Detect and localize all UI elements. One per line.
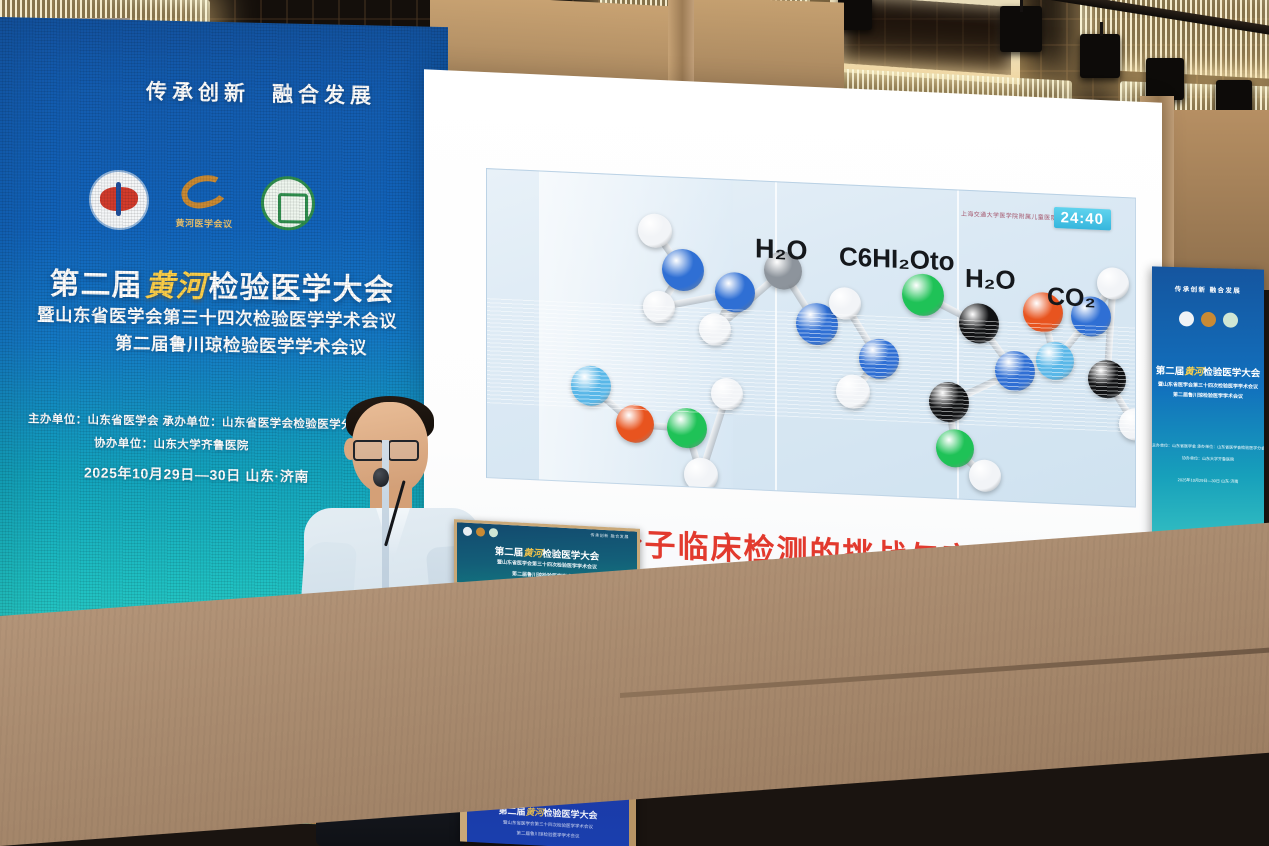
podium-title-prefix: 第二届 (495, 546, 524, 558)
banner-slogan: 传承创新 融合发展 (1152, 282, 1264, 295)
atom-chlorine (902, 273, 944, 317)
yellow-river-medical-conference-logo-icon: 黄河医学会议 (173, 173, 235, 230)
logo-caption: 黄河医学会议 (173, 216, 235, 230)
shandong-medical-association-logo-icon (1179, 311, 1194, 326)
spotlight-mount-arm (1100, 22, 1103, 36)
qilu-hospital-logo-icon (489, 528, 498, 537)
title-suffix: 检验医学大会 (209, 271, 395, 308)
backdrop-date-location: 2025年10月29日—30日 山东·济南 (84, 462, 309, 486)
atom-hydrogen (684, 457, 718, 493)
microphone-icon (373, 468, 389, 487)
banner-subtitle-2: 第二届鲁川琼检验医学学术会议 (1152, 390, 1264, 400)
atom-oxygen (616, 404, 654, 444)
atom-hydrogen (711, 377, 743, 410)
atom-carbon (929, 381, 969, 423)
podium-slogan: 传承创新 融合发展 (590, 532, 629, 540)
atom-hydrogen (638, 213, 672, 249)
molecular-bond (850, 357, 882, 394)
atom-nitrogen (715, 271, 755, 313)
backdrop-logo-row: 黄河医学会议 (91, 171, 315, 231)
banner-date-location: 2025年10月29日—30日 山东·济南 (1152, 476, 1264, 485)
conference-stage-photo: 传承创新融合发展 黄河医学会议 第二届黄河检验医学大会 暨山东省医学会第三十四次… (0, 0, 1269, 846)
atom-carbon (1088, 359, 1126, 399)
qilu-hospital-logo-icon (1223, 312, 1238, 327)
stage-spotlight (1080, 34, 1120, 78)
chemical-formula: H₂O (965, 263, 1016, 296)
atom-hydrogen (643, 290, 675, 323)
qilu-hospital-logo-icon (261, 176, 315, 231)
atom-chlorine (936, 428, 974, 468)
atom-hydrogen (699, 313, 731, 346)
atom-fluorine (571, 365, 611, 407)
atom-hydrogen (969, 459, 1001, 492)
backdrop-organizer-line-2: 协办单位：山东大学齐鲁医院 (94, 435, 249, 454)
banner-logo-row (1152, 310, 1264, 328)
countdown-timer: 24:40 (1054, 207, 1111, 231)
molecular-structure-image: H₂OC6HI₂OtoH₂OCO₂CO₂ 上海交通大学医学院附属儿童医院 24:… (486, 168, 1136, 508)
slide-brand-strip: 上海交通大学医学院附属儿童医院 (961, 209, 1057, 222)
molecular-bond (947, 368, 1016, 405)
wall-panel-far-right (1174, 110, 1269, 290)
atom-carbon (959, 303, 999, 345)
eyeglasses-icon (388, 440, 419, 461)
shandong-medical-association-logo-icon (91, 171, 147, 228)
atom-hydrogen (1119, 408, 1136, 441)
stage-spotlight (1000, 6, 1042, 52)
molecular-bond (1104, 378, 1136, 427)
roll-up-banner: 传承创新 融合发展 第二届黄河检验医学大会 暨山东省医学会第三十四次检验医学学术… (1152, 266, 1264, 565)
atom-hydrogen (829, 287, 861, 320)
chemical-formula-layer: H₂OC6HI₂OtoH₂OCO₂CO₂ (487, 169, 1135, 198)
podium-logo-row (463, 527, 498, 538)
chemical-formula: C6HI₂Oto (839, 241, 955, 277)
banner-organizer-1: 主办单位：山东省医学会 承办单位：山东省医学会检验医学分会 (1152, 442, 1264, 451)
podium-title-highlight: 黄河 (523, 548, 542, 560)
chemical-formula: CO₂ (1047, 283, 1096, 314)
panel-divider (775, 182, 777, 490)
chemical-formula: H₂O (755, 233, 808, 266)
atom-nitrogen (859, 338, 899, 380)
banner-subtitle-1: 暨山东省医学会第三十四次检验医学学术会议 (1152, 380, 1264, 390)
stage-spotlight (1146, 58, 1184, 100)
atom-layer (487, 169, 1135, 198)
yellow-river-medical-conference-logo-icon (1201, 312, 1216, 327)
atom-hydrogen (836, 374, 870, 410)
eyeglasses-icon (353, 440, 384, 461)
atom-fluorine (1036, 341, 1074, 381)
banner-title-prefix: 第二届 (1156, 366, 1185, 378)
title-prefix: 第二届 (50, 268, 143, 303)
yellow-river-medical-conference-logo-icon (476, 527, 485, 536)
slogan-left-text: 传承创新 (146, 81, 250, 106)
banner-title-suffix: 检验医学大会 (1203, 367, 1260, 380)
banner-organizer-2: 协办单位：山东大学齐鲁医院 (1152, 454, 1264, 463)
lower-title-suffix: 检验医学大会 (544, 808, 598, 821)
banner-title-highlight: 黄河 (1184, 366, 1203, 378)
slogan-right-text: 融合发展 (272, 83, 376, 108)
spotlight-mount-arm (1020, 0, 1023, 12)
atom-nitrogen (995, 350, 1035, 392)
backdrop-slogan: 传承创新融合发展 (146, 76, 446, 112)
molecular-bond (976, 321, 1018, 373)
shandong-medical-association-logo-icon (463, 527, 472, 536)
title-highlight: 黄河 (143, 269, 209, 303)
lower-title-highlight: 黄河 (525, 807, 543, 818)
atom-hydrogen (1097, 267, 1129, 300)
banner-title: 第二届黄河检验医学大会 (1152, 362, 1264, 379)
atom-chlorine (667, 407, 707, 449)
